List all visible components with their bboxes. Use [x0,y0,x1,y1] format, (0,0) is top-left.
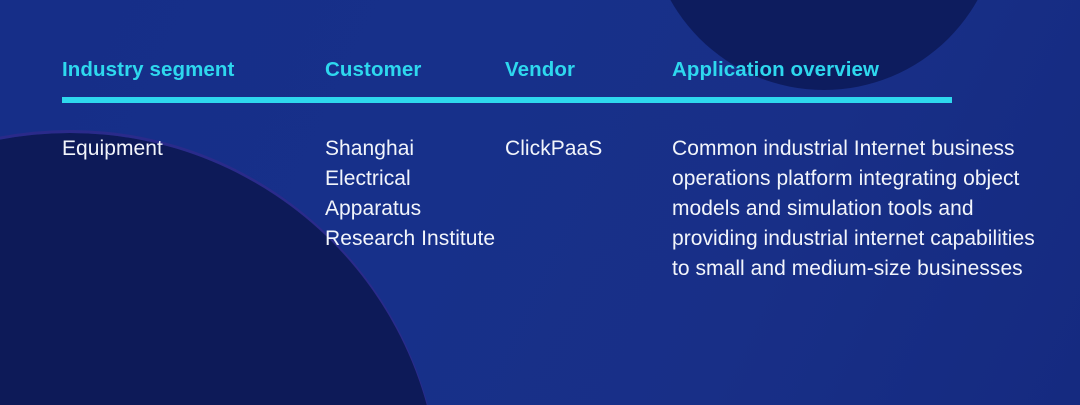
table-cell-vendor: ClickPaaS [505,134,602,164]
column-header-vendor: Vendor [505,60,575,81]
table-cell-application-overview: Common industrial Internet business oper… [672,134,1050,284]
table-cell-customer: Shanghai Electrical Apparatus Research I… [325,134,500,254]
comparison-table: Industry segment Equipment Customer Shan… [0,0,1080,405]
table-cell-industry-segment: Equipment [62,134,163,164]
slide-canvas: Industry segment Equipment Customer Shan… [0,0,1080,405]
column-header-application-overview: Application overview [672,60,879,81]
table-header-rule [62,97,952,103]
column-header-industry-segment: Industry segment [62,60,234,81]
column-header-customer: Customer [325,60,421,81]
